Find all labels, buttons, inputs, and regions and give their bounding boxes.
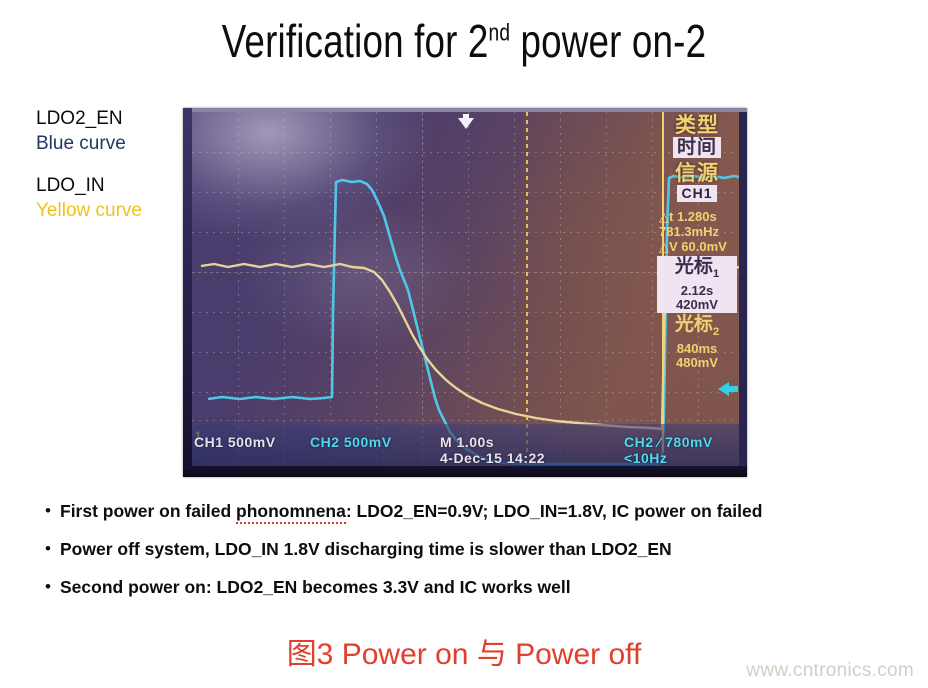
- readout-frequency: 781.3mHz: [657, 224, 737, 239]
- curve-legend: LDO2_EN Blue curve LDO_IN Yellow curve: [36, 106, 186, 223]
- cursor-1-time: 2.12s: [659, 284, 735, 298]
- legend-spacer: [36, 156, 186, 173]
- slide-root: Verification for 2nd power on-2 LDO2_EN …: [0, 0, 928, 688]
- list-item: • First power on failed phonomnena: LDO2…: [36, 498, 904, 524]
- ch2-ground-marker-bar-icon: [729, 386, 738, 392]
- scope-screen: 1 类型 时间 信源 CH1 △t 1.280s 781.3mHz △V 60.…: [192, 112, 739, 466]
- title-superscript: nd: [489, 20, 511, 47]
- bullet-text-1: First power on failed phonomnena: LDO2_E…: [60, 498, 762, 524]
- photo-bezel-bottom: [183, 466, 747, 477]
- bullet-text-3: Second power on: LDO2_EN becomes 3.3V an…: [60, 574, 571, 600]
- trace-ldo-in-yellow: [201, 264, 662, 429]
- cursor-2-voltage: 480mV: [657, 356, 737, 370]
- readout-cursor-1[interactable]: 光标1 2.12s 420mV: [657, 256, 737, 313]
- site-watermark: www.cntronics.com: [746, 660, 914, 682]
- legend-label-ldoin: LDO_IN: [36, 173, 186, 198]
- legend-label-yellow-curve: Yellow curve: [36, 198, 186, 223]
- bullet-marker: •: [36, 574, 60, 600]
- scope-readout-panel: 类型 时间 信源 CH1 △t 1.280s 781.3mHz △V 60.0m…: [657, 114, 737, 370]
- readout-type-label: 类型: [657, 114, 737, 137]
- list-item: • Power off system, LDO_IN 1.8V discharg…: [36, 536, 904, 562]
- legend-label-ldo2en: LDO2_EN: [36, 106, 186, 131]
- oscilloscope-photo: 1 类型 时间 信源 CH1 △t 1.280s 781.3mHz △V 60.…: [183, 108, 747, 477]
- bullet-1-misspelled-word: phonomnena: [236, 501, 346, 524]
- title-rest: power on-2: [510, 15, 706, 67]
- bullet-text-2: Power off system, LDO_IN 1.8V dischargin…: [60, 536, 672, 562]
- readout-type-value[interactable]: 时间: [673, 137, 721, 158]
- cursor-2-index: 2: [713, 326, 719, 338]
- bullet-list: • First power on failed phonomnena: LDO2…: [36, 498, 904, 612]
- ch2-ground-marker-icon: [718, 382, 729, 396]
- readout-delta-v: △V 60.0mV: [657, 239, 737, 254]
- cursor-2-label: 光标: [675, 314, 713, 335]
- trigger-position-stem-icon: [463, 114, 469, 120]
- list-item: • Second power on: LDO2_EN becomes 3.3V …: [36, 574, 904, 600]
- readout-source-label: 信源: [657, 162, 737, 185]
- cursor-1-voltage: 420mV: [659, 298, 735, 312]
- trace-ldo2-en-blue: [208, 180, 662, 464]
- page-title: Verification for 2nd power on-2: [93, 14, 835, 68]
- status-frequency: <10Hz: [624, 450, 667, 466]
- title-main: Verification for 2: [222, 15, 489, 67]
- bullet-marker: •: [36, 536, 60, 562]
- photo-bezel-left: [183, 108, 192, 477]
- cursor-1-label: 光标: [675, 256, 713, 277]
- scope-status-bar: CH1 500mV CH2 500mV M 1.00s 4-Dec-15 14:…: [192, 424, 739, 466]
- cursor-1-line[interactable]: [526, 112, 528, 452]
- status-timebase: M 1.00s: [440, 434, 494, 450]
- bullet-marker: •: [36, 498, 60, 524]
- bullet-1-pre: First power on failed: [60, 501, 236, 521]
- status-datetime: 4-Dec-15 14:22: [440, 450, 545, 466]
- status-trigger-src: CH2 ∕ 780mV: [624, 434, 713, 450]
- cursor-2-time: 840ms: [657, 342, 737, 356]
- bullet-1-post: : LDO2_EN=0.9V; LDO_IN=1.8V, IC power on…: [346, 501, 763, 521]
- cursor-1-index: 1: [713, 268, 719, 280]
- readout-cursor-2[interactable]: 光标2 840ms 480mV: [657, 315, 737, 370]
- legend-label-blue-curve: Blue curve: [36, 131, 186, 156]
- readout-source-value[interactable]: CH1: [677, 185, 716, 202]
- readout-delta-t: △t 1.280s: [657, 209, 737, 224]
- status-ch1-scale: CH1 500mV: [194, 434, 276, 450]
- status-ch2-scale: CH2 500mV: [310, 434, 392, 450]
